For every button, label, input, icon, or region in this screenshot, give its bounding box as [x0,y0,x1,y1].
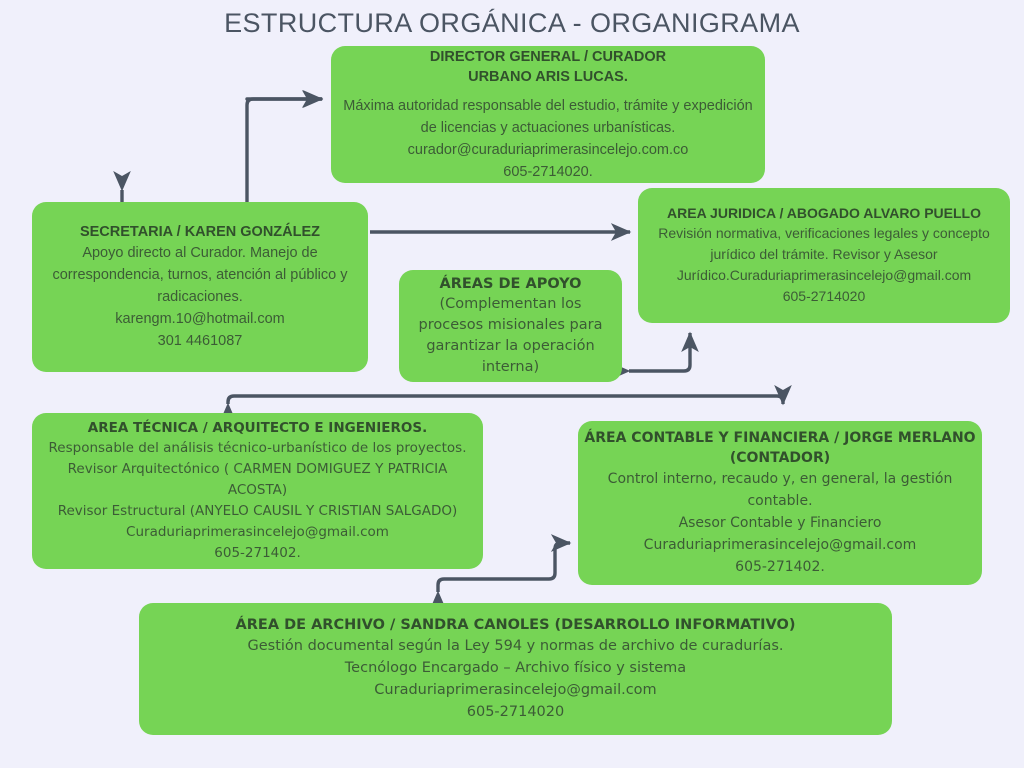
node-director-general-heading: DIRECTOR GENERAL / CURADOR URBANO ARIS L… [337,47,759,87]
node-area-de-archivo-heading: ÁREA DE ARCHIVO / SANDRA CANOLES (DESARR… [145,615,886,635]
connector-apoyo-to-juridica [629,333,690,371]
node-director-general[interactable]: DIRECTOR GENERAL / CURADOR URBANO ARIS L… [331,46,765,183]
node-director-general-body: Máxima autoridad responsable del estudio… [337,95,759,183]
connector-bus-to-tecnica-contable [228,396,783,404]
organigrama-canvas: ESTRUCTURA ORGÁNICA - ORGANIGRAMA DIRECT… [0,0,1024,768]
node-secretaria-heading: SECRETARIA / KAREN GONZÁLEZ [38,222,362,242]
node-areas-de-apoyo[interactable]: ÁREAS DE APOYO (Complementan los proceso… [399,270,622,382]
node-area-contable-financiera-heading: ÁREA CONTABLE Y FINANCIERA / JORGE MERLA… [584,428,976,468]
node-area-tecnica-heading: AREA TÉCNICA / ARQUITECTO E INGENIEROS. [38,419,477,438]
node-area-de-archivo[interactable]: ÁREA DE ARCHIVO / SANDRA CANOLES (DESARR… [139,603,892,735]
node-areas-de-apoyo-heading: ÁREAS DE APOYO [405,274,616,294]
node-area-juridica[interactable]: AREA JURIDICA / ABOGADO ALVARO PUELLO Re… [638,188,1010,323]
node-area-tecnica[interactable]: AREA TÉCNICA / ARQUITECTO E INGENIEROS. … [32,413,483,569]
node-area-de-archivo-body: Gestión documental según la Ley 594 y no… [145,635,886,723]
node-secretaria-body: Apoyo directo al Curador. Manejo de corr… [38,242,362,352]
node-area-juridica-heading: AREA JURIDICA / ABOGADO ALVARO PUELLO [644,204,1004,223]
node-area-tecnica-body: Responsable del análisis técnico-urbanís… [38,438,477,564]
node-area-juridica-body: Revisión normativa, verificaciones legal… [644,223,1004,307]
node-area-contable-financiera[interactable]: ÁREA CONTABLE Y FINANCIERA / JORGE MERLA… [578,421,982,585]
node-secretaria[interactable]: SECRETARIA / KAREN GONZÁLEZ Apoyo direct… [32,202,368,372]
node-area-contable-financiera-body: Control interno, recaudo y, en general, … [584,468,976,578]
page-title: ESTRUCTURA ORGÁNICA - ORGANIGRAMA [0,8,1024,39]
node-areas-de-apoyo-body: (Complementan los procesos misionales pa… [405,294,616,378]
